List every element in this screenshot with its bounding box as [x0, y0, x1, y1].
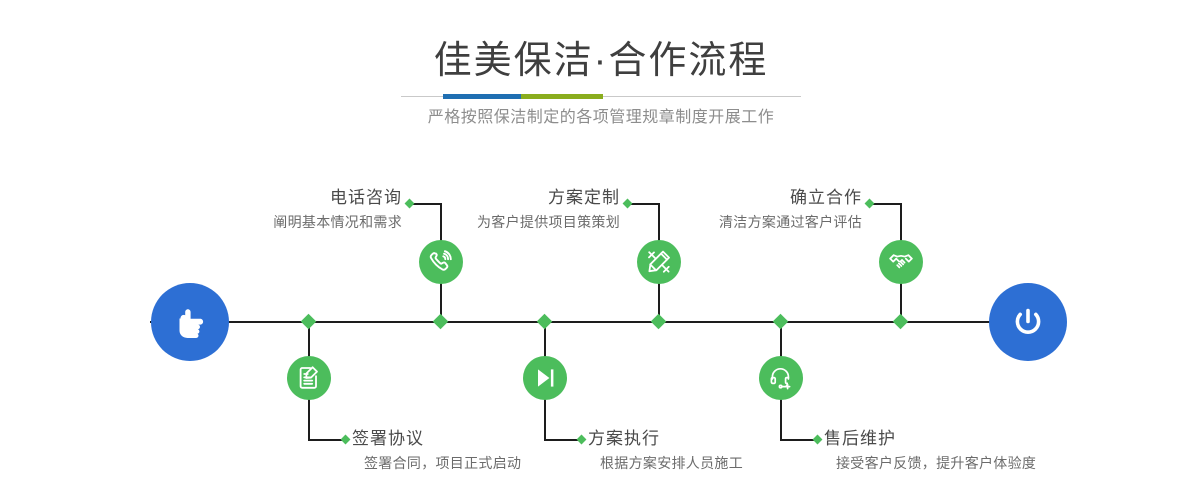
power-button-icon	[1007, 301, 1049, 343]
axis-diamond-3	[651, 314, 667, 330]
connector-arm-4	[544, 439, 580, 441]
connector-arm-1	[410, 203, 442, 205]
flow-end-marker	[989, 283, 1067, 361]
pointing-hand-icon	[169, 301, 211, 343]
flow-start-marker	[151, 283, 229, 361]
cooperation-flow-infographic: 佳美保洁·合作流程 严格按照保洁制定的各项管理规章制度开展工作	[0, 0, 1202, 502]
divider-blue-segment	[443, 94, 521, 99]
step-title-5: 确立合作	[600, 187, 862, 209]
label-diamond-2	[341, 435, 351, 445]
axis-diamond-4	[537, 314, 553, 330]
connector-arm-3	[628, 203, 660, 205]
pencil-ruler-icon	[646, 249, 672, 275]
handshake-icon	[888, 249, 914, 275]
connector-arm-2	[308, 439, 344, 441]
step-label-2: 签署协议 签署合同，项目正式启动	[352, 428, 612, 474]
page-subtitle: 严格按照保洁制定的各项管理规章制度开展工作	[0, 106, 1202, 130]
phone-call-icon	[428, 249, 454, 275]
step-title-6: 售后维护	[824, 428, 1104, 450]
step-subtitle-5: 清洁方案通过客户评估	[600, 211, 862, 233]
step-node-2[interactable]	[287, 356, 331, 400]
step-node-5[interactable]	[879, 240, 923, 284]
connector-arm-5	[870, 203, 902, 205]
step-subtitle-6: 接受客户反馈，提升客户体验度	[836, 452, 1104, 474]
page-title: 佳美保洁·合作流程	[0, 38, 1202, 84]
step-label-5: 确立合作 清洁方案通过客户评估	[600, 187, 862, 233]
axis-diamond-2	[301, 314, 317, 330]
axis-diamond-5	[893, 314, 909, 330]
step-subtitle-4: 根据方案安排人员施工	[600, 452, 848, 474]
axis-diamond-1	[433, 314, 449, 330]
step-subtitle-3: 为客户提供项目策策划	[358, 211, 620, 233]
step-subtitle-2: 签署合同，项目正式启动	[364, 452, 612, 474]
step-node-4[interactable]	[523, 356, 567, 400]
step-label-3: 方案定制 为客户提供项目策策划	[358, 187, 620, 233]
title-divider	[401, 94, 801, 99]
step-label-6: 售后维护 接受客户反馈，提升客户体验度	[824, 428, 1104, 474]
axis-diamond-6	[773, 314, 789, 330]
divider-green-segment	[521, 94, 603, 99]
step-node-6[interactable]	[759, 356, 803, 400]
step-node-1[interactable]	[419, 240, 463, 284]
step-title-3: 方案定制	[358, 187, 620, 209]
step-node-3[interactable]	[637, 240, 681, 284]
connector-arm-6	[780, 439, 816, 441]
document-edit-icon	[296, 365, 322, 391]
label-diamond-5	[865, 199, 875, 209]
step-label-4: 方案执行 根据方案安排人员施工	[588, 428, 848, 474]
play-skip-icon	[532, 365, 558, 391]
timeline-axis	[150, 321, 1052, 323]
headset-support-icon	[768, 365, 794, 391]
